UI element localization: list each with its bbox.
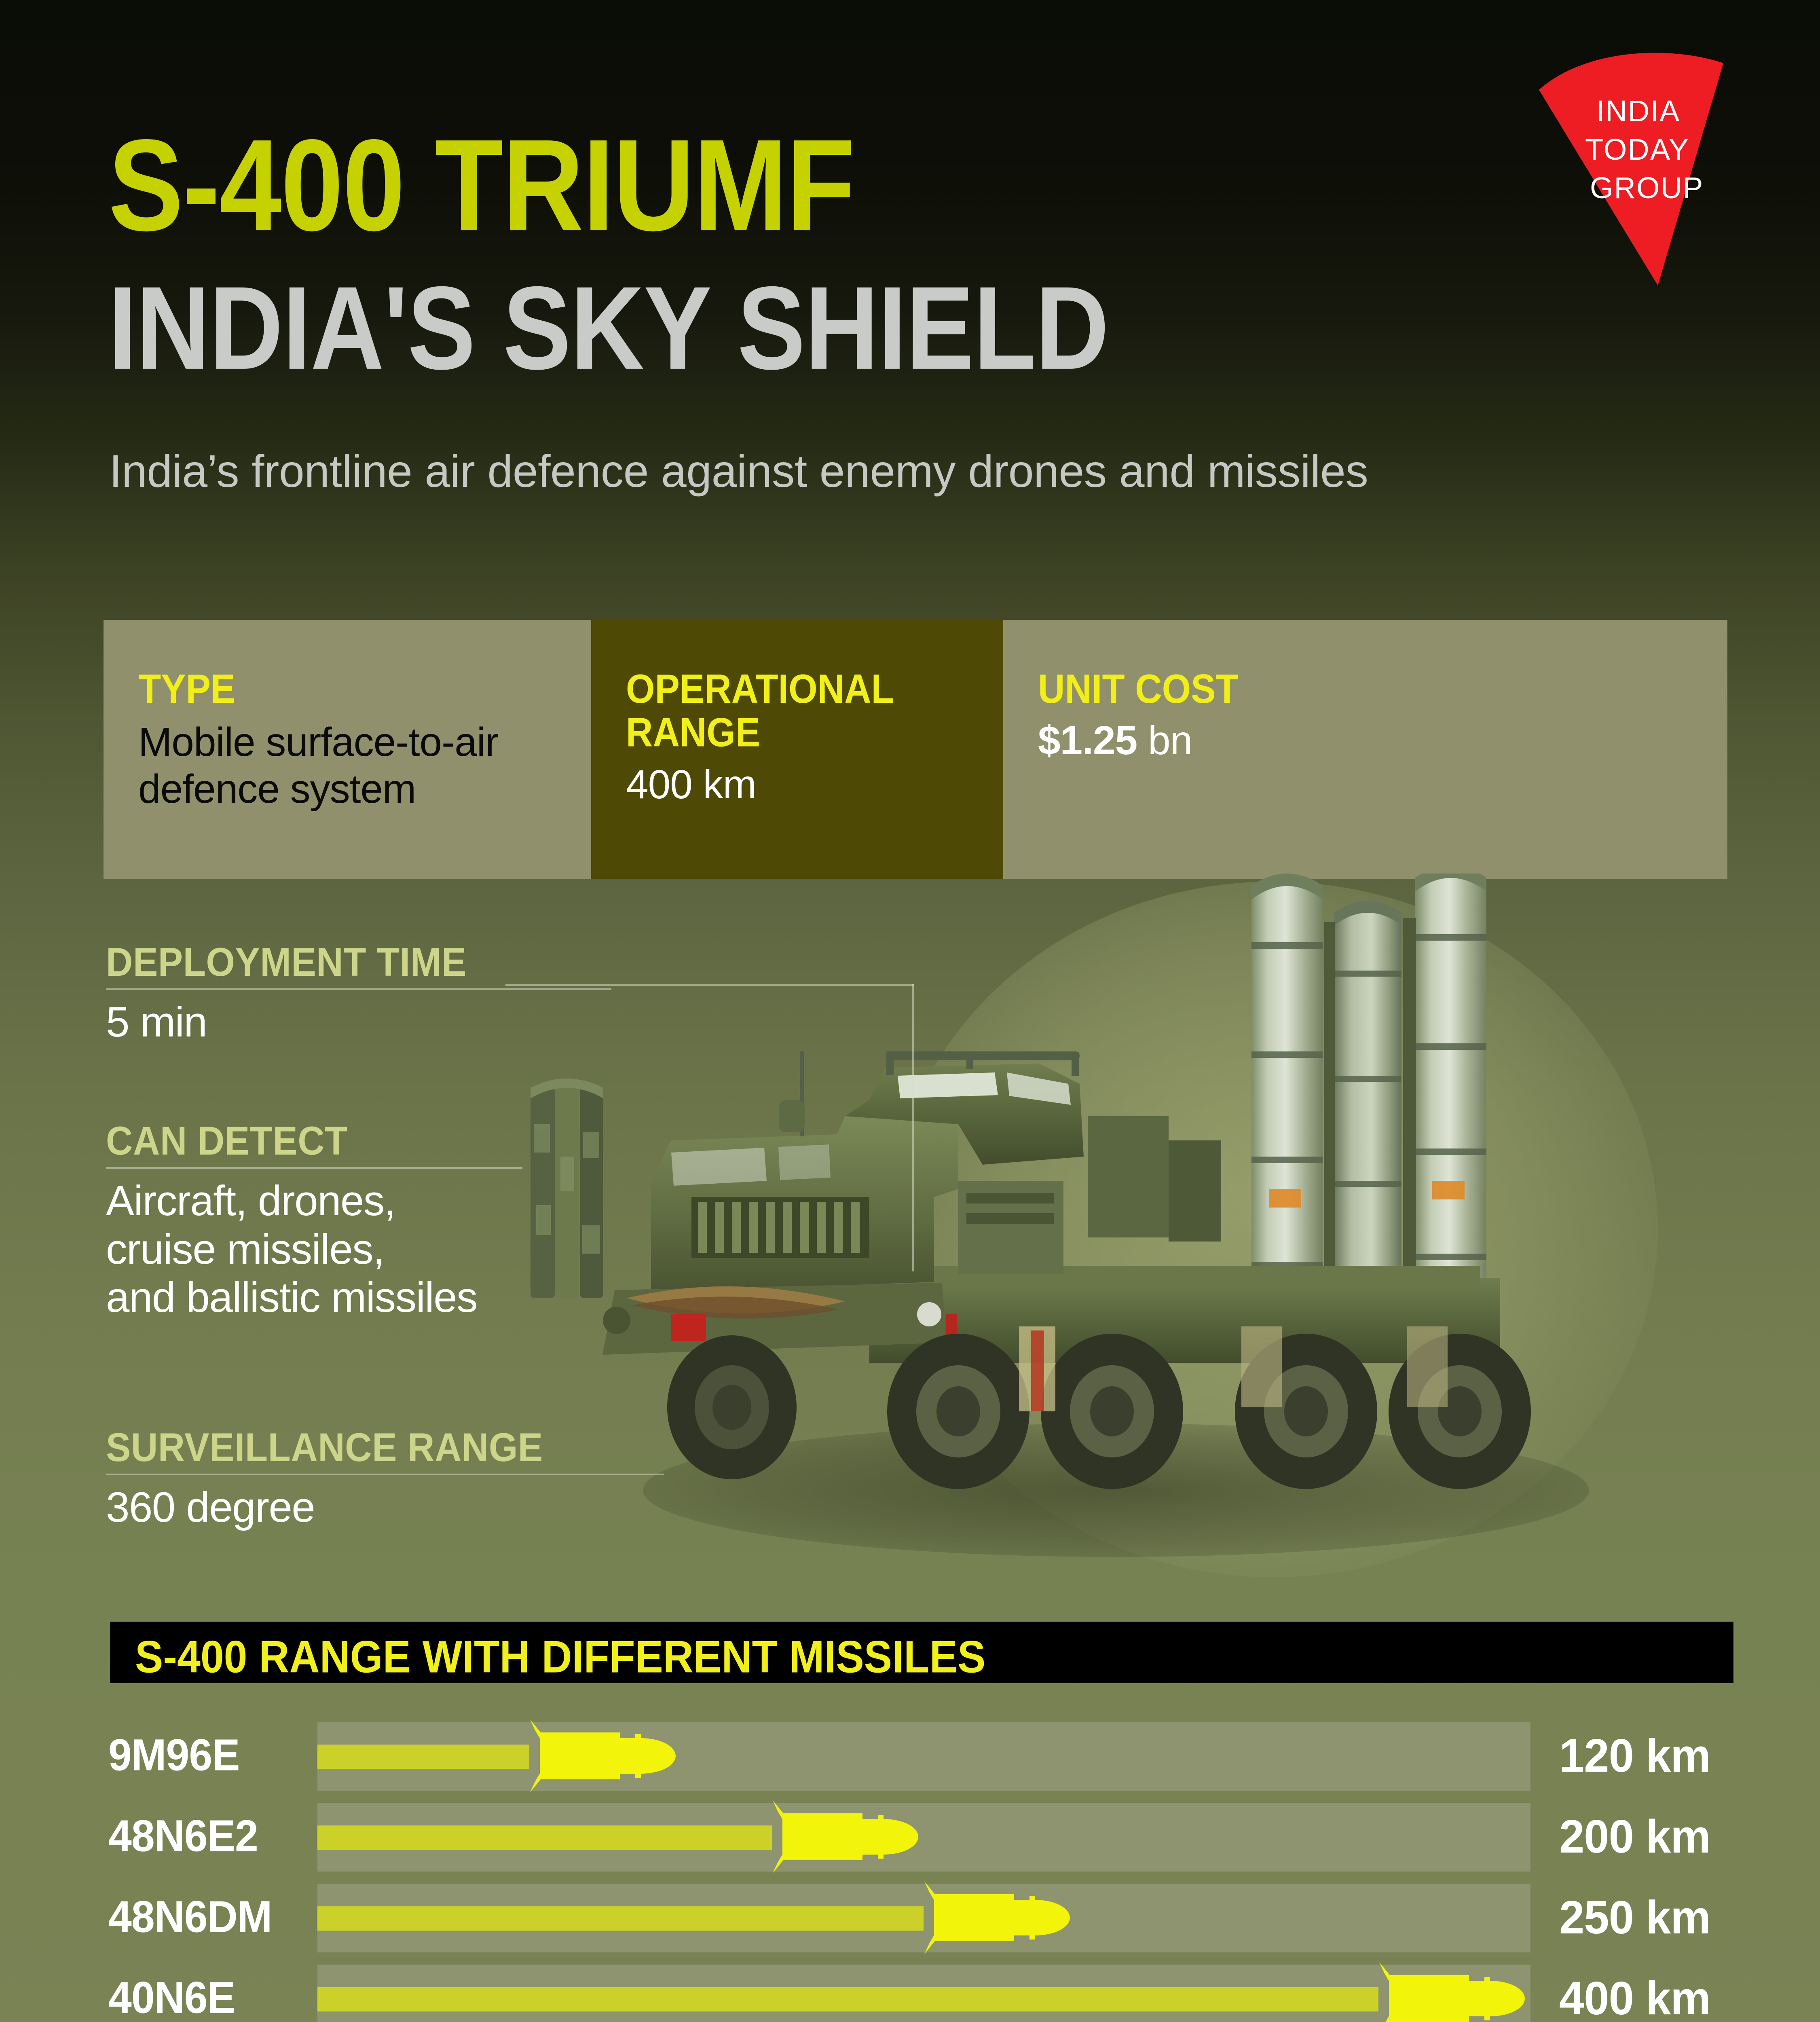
- spec-card-operational-range-value: 400 km: [626, 761, 1003, 808]
- missile-icon: [757, 1797, 947, 1876]
- chart-row-category: 48N6E2: [108, 1811, 302, 1862]
- spec-card-type-label: TYPE: [138, 668, 591, 711]
- chart-row-category: 40N6E: [108, 1973, 302, 2022]
- india-today-group-logo: INDIA TODAY GROUP: [1537, 44, 1727, 287]
- logo-line-3: GROUP: [1590, 171, 1704, 205]
- spec-card-unit-cost-value: $1.25 bn: [1038, 717, 1727, 764]
- spec-deployment-time-label: DEPLOYMENT TIME: [106, 942, 611, 992]
- spec-deployment-time-value: 5 min: [106, 998, 611, 1047]
- chart-title: S-400 RANGE WITH DIFFERENT MISSILES: [135, 1631, 985, 1684]
- chart-row-bar: [317, 1825, 772, 1850]
- spec-surveillance-range: SURVEILLANCE RANGE 360 degree: [106, 1428, 664, 1532]
- spec-can-detect-value: Aircraft, drones,cruise missiles,and bal…: [106, 1177, 522, 1322]
- spare-canisters: [531, 1079, 603, 1298]
- chart-row: 48N6E2 200 km: [0, 1800, 1820, 1876]
- logo-line-2: TODAY: [1585, 133, 1689, 166]
- chart-row: 48N6DM 250 km: [0, 1880, 1820, 1956]
- chart-row-bar: [317, 1745, 529, 1769]
- chart-row-bar: [317, 1987, 1378, 2011]
- spec-surveillance-range-label: SURVEILLANCE RANGE: [106, 1428, 664, 1477]
- tagline: India’s frontline air defence against en…: [109, 445, 1368, 497]
- spec-can-detect-label: CAN DETECT: [106, 1121, 522, 1171]
- page-title: S-400 TRIUMF: [108, 121, 1402, 249]
- spec-card-type-value: Mobile surface-to-airdefence system: [138, 719, 591, 812]
- spec-card-operational-range-label: OPERATIONALRANGE: [626, 668, 1003, 755]
- chart-row: 9M96E 120 km: [0, 1719, 1820, 1795]
- page-subtitle: INDIA'S SKY SHIELD: [108, 269, 1402, 387]
- spec-card-unit-cost-label: UNIT COST: [1038, 668, 1727, 711]
- s400-tel-icon: [481, 874, 1751, 1537]
- infographic-page: S-400 TRIUMF INDIA'S SKY SHIELD India’s …: [0, 0, 1820, 2022]
- missile-icon: [514, 1716, 704, 1796]
- spec-strip: TYPE Mobile surface-to-airdefence system…: [104, 620, 1727, 879]
- missile-range-chart: 9M96E 120 km48N6E2 200 km48N6DM 250 km40…: [0, 1719, 1820, 2022]
- logo-line-1: INDIA: [1596, 94, 1680, 128]
- chart-title-bar: S-400 RANGE WITH DIFFERENT MISSILES: [110, 1622, 1733, 1683]
- unit-cost-amount: $1.25: [1038, 718, 1137, 763]
- chart-row-category: 48N6DM: [108, 1892, 302, 1943]
- missile-icon: [1363, 1959, 1553, 2022]
- chart-row: 40N6E 400 km: [0, 1961, 1820, 2022]
- page-title-block: S-400 TRIUMF INDIA'S SKY SHIELD: [108, 121, 1402, 371]
- spec-can-detect: CAN DETECT Aircraft, drones,cruise missi…: [106, 1121, 522, 1322]
- spec-surveillance-range-value: 360 degree: [106, 1483, 664, 1532]
- s400-launcher-vehicle-image: [481, 874, 1751, 1537]
- unit-cost-suffix: bn: [1137, 718, 1192, 763]
- chart-row-category: 9M96E: [108, 1730, 302, 1781]
- chart-row-bar: [317, 1906, 924, 1931]
- chart-row-value: 200 km: [1559, 1809, 1710, 1863]
- chart-row-value: 400 km: [1559, 1971, 1710, 2022]
- spec-deployment-time: DEPLOYMENT TIME 5 min: [106, 942, 611, 1047]
- logo-wedge-icon: INDIA TODAY GROUP: [1537, 44, 1727, 287]
- missile-icon: [908, 1878, 1098, 1957]
- chart-row-value: 120 km: [1559, 1728, 1710, 1783]
- chart-row-value: 250 km: [1559, 1890, 1710, 1944]
- spec-card-type: TYPE Mobile surface-to-airdefence system: [104, 620, 591, 879]
- spec-card-operational-range: OPERATIONALRANGE 400 km: [591, 620, 1003, 879]
- spec-card-unit-cost: UNIT COST $1.25 bn: [1003, 620, 1727, 879]
